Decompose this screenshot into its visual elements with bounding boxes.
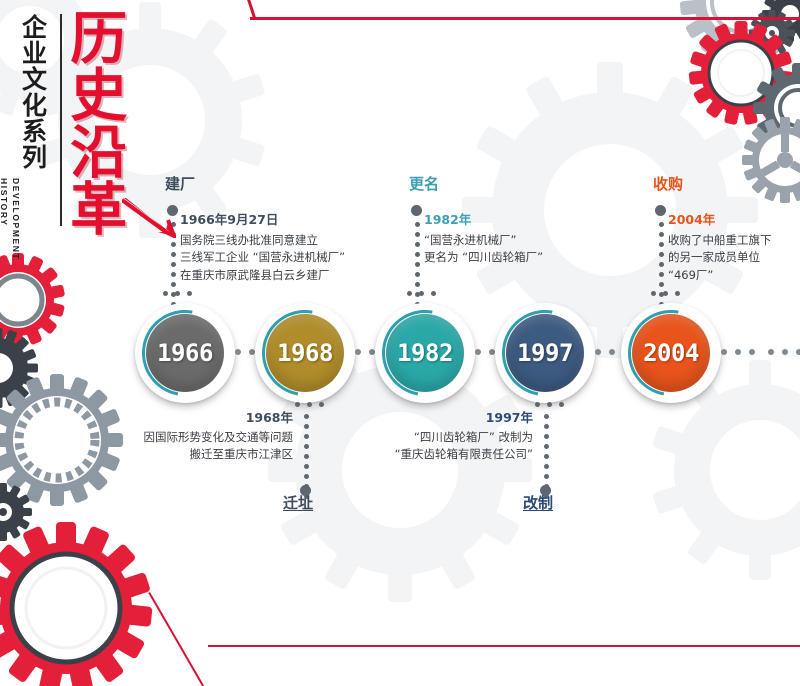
series-label-english: DEVELOPMENT HISTORY xyxy=(0,178,22,298)
node-1997-year: 1997 xyxy=(517,339,573,367)
node-2004-category: 收购 xyxy=(653,176,683,193)
node-1982-category: 更名 xyxy=(409,176,439,193)
node-2004-text: 收购 xyxy=(653,176,683,193)
node-1968-base-dots xyxy=(295,402,324,407)
node-2004-date-block: 2004年 xyxy=(668,211,715,230)
node-1968-year: 1968 xyxy=(277,339,333,367)
node-1966-line-1: 国务院三线办批准同意建立 xyxy=(180,232,345,249)
node-2004-line-1: 收购了中船重工旗下 xyxy=(668,232,772,249)
node-2004-date: 2004年 xyxy=(668,211,715,230)
node-1966-base-dots xyxy=(163,291,192,296)
node-1997-date: 1997年 xyxy=(240,409,533,428)
node-2004-circle-face: 2004 xyxy=(632,314,710,392)
node-1982-line-2: 更名为 “四川齿轮箱厂” xyxy=(424,249,543,266)
node-1982-text: 更名 xyxy=(409,176,439,193)
timeline-separator-5 xyxy=(721,349,755,355)
node-1997-line-1: “四川齿轮箱厂” 改制为 xyxy=(240,429,533,446)
node-1966-date-block: 1966年9月27日 xyxy=(180,211,278,230)
node-1982-base-dots xyxy=(407,291,436,296)
node-1997-line-2: “重庆齿轮箱有限责任公司” xyxy=(240,446,533,463)
series-en-line1: DEVELOPMENT xyxy=(10,178,22,298)
node-2004-year: 2004 xyxy=(643,339,699,367)
node-1968-circle-face: 1968 xyxy=(266,314,344,392)
node-2004-marker-dot xyxy=(655,205,666,216)
node-1982-date-block: 1982年 xyxy=(424,211,471,230)
infographic-canvas: 企业文化系列 DEVELOPMENT HISTORY 历史沿革 建厂 xyxy=(0,0,800,686)
node-1982-date: 1982年 xyxy=(424,211,471,230)
page-title: 历史沿革 xyxy=(66,8,121,236)
node-1966-date: 1966年9月27日 xyxy=(180,211,278,230)
node-1982-body: “国营永进机械厂” 更名为 “四川齿轮箱厂” xyxy=(424,232,543,267)
node-1997-body: “四川齿轮箱厂” 改制为 “重庆齿轮箱有限责任公司” xyxy=(240,429,533,464)
node-1966-year: 1966 xyxy=(157,339,213,367)
timeline-separator-6 xyxy=(768,349,800,355)
node-1966-circle-face: 1966 xyxy=(146,314,224,392)
node-1968-circle[interactable]: 1968 xyxy=(255,303,355,403)
series-label: 企业文化系列 xyxy=(20,14,46,170)
node-1997-circle-face: 1997 xyxy=(506,314,584,392)
node-2004-line-3: “469厂” xyxy=(668,267,772,284)
node-2004-circle[interactable]: 2004 xyxy=(621,303,721,403)
node-1966-line-3: 在重庆市原武隆县白云乡建厂 xyxy=(180,267,345,284)
node-1997-date-block: 1997年 xyxy=(240,409,533,428)
footer: 重庆齿轮箱有限责任公司 xyxy=(0,625,800,665)
title-arrow-icon xyxy=(122,196,176,238)
node-2004-base-dots xyxy=(651,291,680,296)
node-1982-circle[interactable]: 1982 xyxy=(375,303,475,403)
node-1997-category-block: 改制 xyxy=(240,493,553,512)
node-1966-circle[interactable]: 1966 xyxy=(135,303,235,403)
node-1997-base-dots xyxy=(535,402,564,407)
node-1997-category: 改制 xyxy=(523,495,553,512)
title-block: 企业文化系列 DEVELOPMENT HISTORY 历史沿革 xyxy=(0,0,190,270)
node-1982-year: 1982 xyxy=(397,339,453,367)
series-en-line2: HISTORY xyxy=(0,178,10,298)
node-1997-circle[interactable]: 1997 xyxy=(495,303,595,403)
node-1982-marker-dot xyxy=(411,205,422,216)
node-1982-circle-face: 1982 xyxy=(386,314,464,392)
node-2004-body: 收购了中船重工旗下 的另一家成员单位 “469厂” xyxy=(668,232,772,284)
node-2004-line-2: 的另一家成员单位 xyxy=(668,249,772,266)
node-1982-line-1: “国营永进机械厂” xyxy=(424,232,543,249)
node-1966-line-2: 三线军工企业 “国营永进机械厂” xyxy=(180,249,345,266)
node-1966-body: 国务院三线办批准同意建立 三线军工企业 “国营永进机械厂” 在重庆市原武隆县白云… xyxy=(180,232,345,284)
